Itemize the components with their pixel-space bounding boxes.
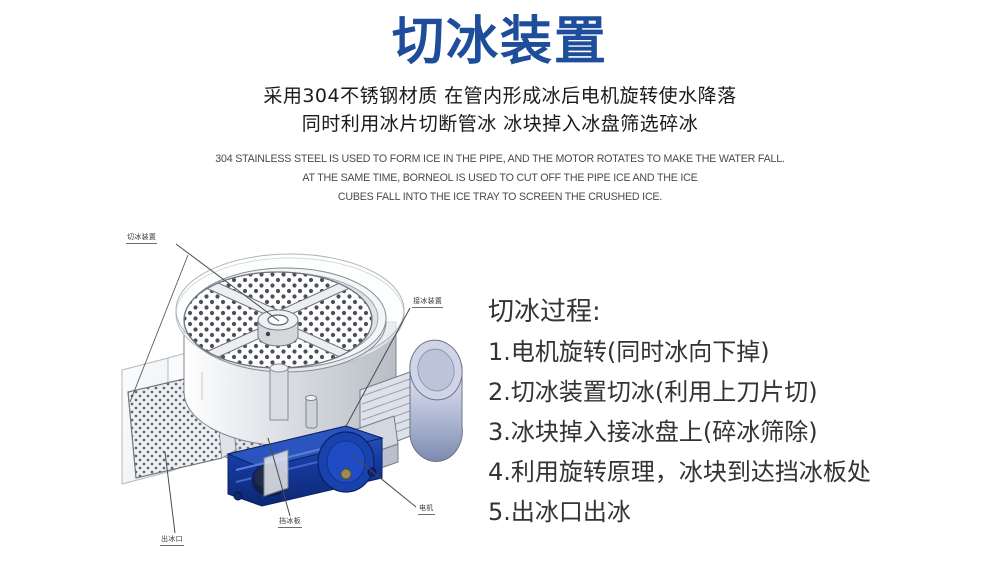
callout-label-ice-outlet: 出冰口	[160, 535, 184, 546]
subtitle-en-line-2: AT THE SAME TIME, BORNEOL IS USED TO CUT…	[139, 169, 861, 188]
ice-baffle-plate	[264, 450, 288, 496]
page-title: 切冰装置	[0, 0, 1000, 72]
callout-label-ice-baffle: 挡冰板	[278, 517, 302, 528]
process-list-title: 切冰过程:	[488, 292, 958, 332]
subtitle-en-line-1: 304 STAINLESS STEEL IS USED TO FORM ICE …	[139, 150, 861, 169]
callout-label-motor: 电机	[418, 504, 435, 515]
subtitle-cn-line-1: 采用304不锈钢材质 在管内形成冰后电机旋转使水降落	[150, 72, 850, 110]
disc-center-hub	[258, 310, 298, 346]
subtitle-en-line-3: CUBES FALL INTO THE ICE TRAY TO SCREEN T…	[139, 188, 861, 207]
subtitle-english: 304 STAINLESS STEEL IS USED TO FORM ICE …	[139, 138, 861, 207]
process-list: 切冰过程: 1.电机旋转(同时冰向下掉) 2.切冰装置切冰(利用上刀片切) 3.…	[488, 292, 958, 532]
subtitle-cn-line-2: 同时利用冰片切断管冰 冰块掉入冰盘筛选碎冰	[150, 110, 850, 138]
drive-shaft	[270, 364, 288, 420]
header: 切冰装置 采用304不锈钢材质 在管内形成冰后电机旋转使水降落 同时利用冰片切断…	[0, 0, 1000, 207]
subtitle-chinese: 采用304不锈钢材质 在管内形成冰后电机旋转使水降落 同时利用冰片切断管冰 冰块…	[150, 72, 850, 138]
process-step-2: 2.切冰装置切冰(利用上刀片切)	[488, 372, 958, 412]
callout-label-receiving-device: 接冰装置	[412, 297, 443, 308]
callout-label-cut-device: 切冰装置	[126, 233, 157, 244]
ice-cutter-illustration	[110, 222, 510, 567]
process-step-5: 5.出冰口出冰	[488, 492, 958, 532]
process-step-3: 3.冰块掉入接冰盘上(碎冰筛除)	[488, 412, 958, 452]
page-root: 切冰装置 采用304不锈钢材质 在管内形成冰后电机旋转使水降落 同时利用冰片切断…	[0, 0, 1000, 574]
process-step-4: 4.利用旋转原理，冰块到达挡冰板处	[488, 452, 958, 492]
process-step-1: 1.电机旋转(同时冰向下掉)	[488, 332, 958, 372]
